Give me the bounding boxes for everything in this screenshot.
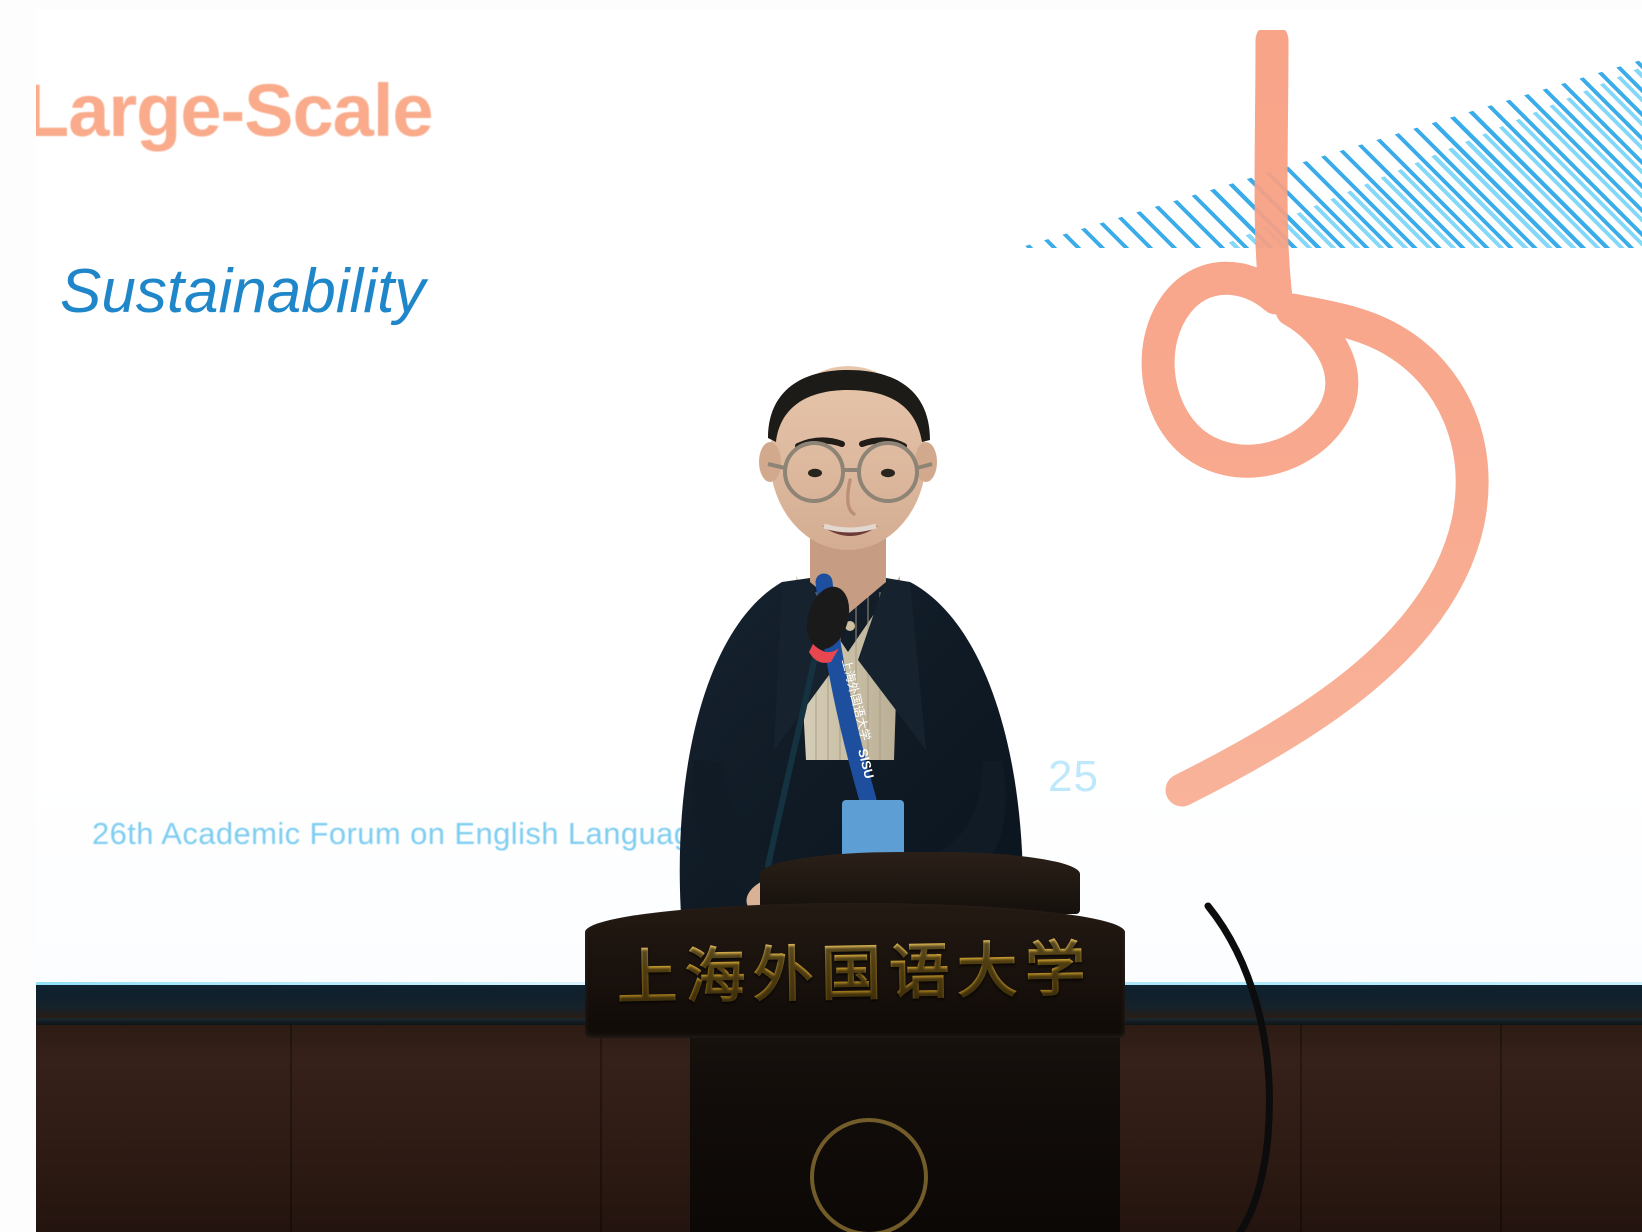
slide-title: Large-Scale [36, 68, 433, 153]
wall-seam [1500, 1025, 1502, 1232]
lectern-emblem [810, 1118, 928, 1232]
wall-seam [600, 1025, 602, 1232]
speaker-eye [881, 469, 895, 477]
wall-seam [290, 1025, 292, 1232]
speaker-ear [759, 442, 781, 482]
speaker-eye [808, 469, 822, 477]
audio-cable [1100, 900, 1320, 1232]
screenshot-root: Large-Scale Sustainability 25 26th Acade… [0, 0, 1642, 1232]
photo-frame: Large-Scale Sustainability 25 26th Acade… [0, 0, 1642, 1232]
lectern-nameplate: 上海外国语大学 [599, 920, 1111, 1017]
slide-subtitle: Sustainability [60, 256, 425, 327]
speaker-figure: 上海外国语大学 SISU AFE [610, 330, 1090, 930]
